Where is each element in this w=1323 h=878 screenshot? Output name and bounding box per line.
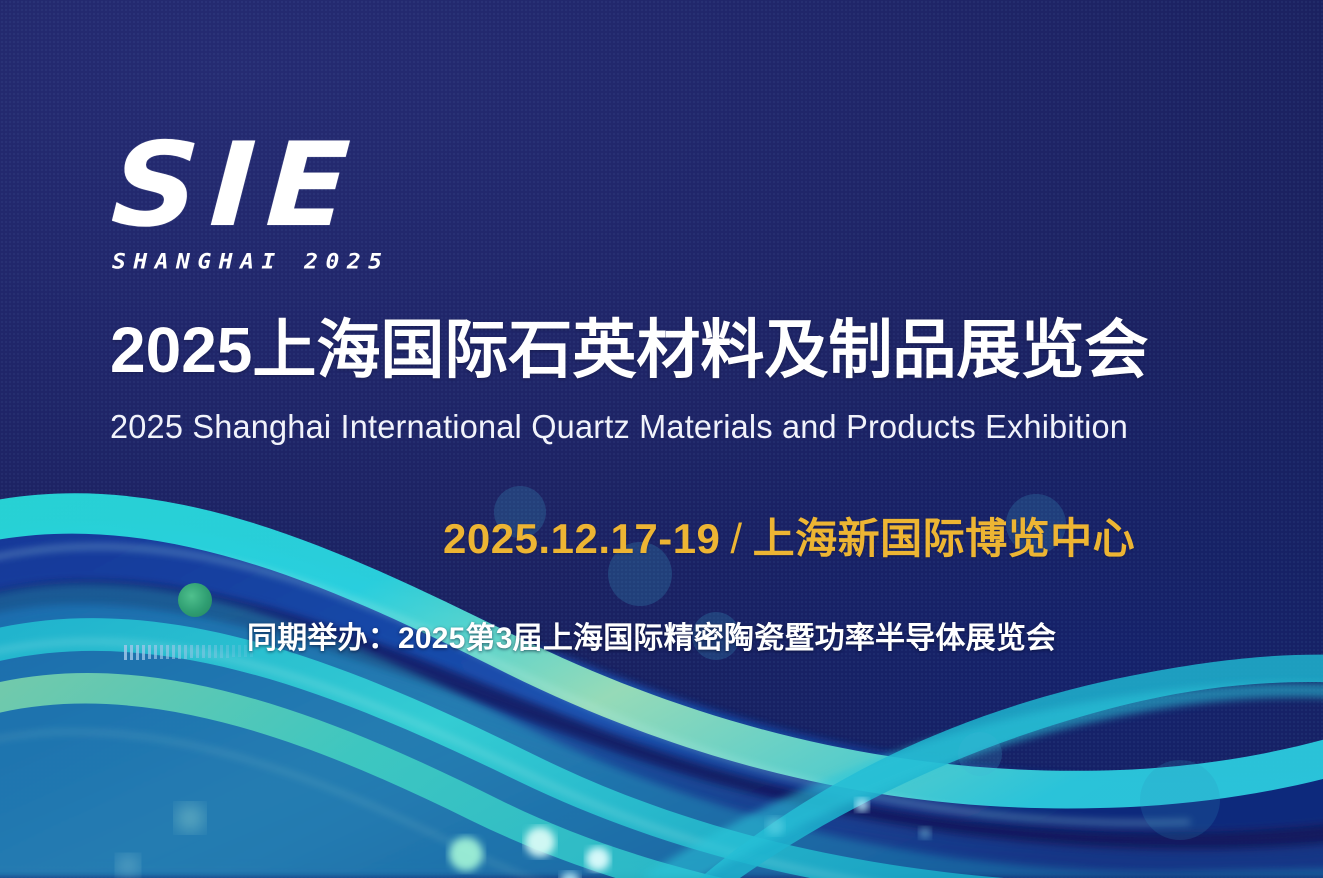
tick-mark bbox=[226, 645, 229, 658]
poster-content: SIE SHANGHAI 2025 2025上海国际石英材料及制品展览会 202… bbox=[0, 0, 1323, 878]
tick-mark bbox=[184, 645, 187, 659]
logo-wordmark: SIE bbox=[109, 128, 427, 244]
green-dot-decoration bbox=[178, 583, 212, 617]
tick-mark bbox=[202, 645, 205, 658]
dateline-separator: / bbox=[720, 515, 752, 562]
tick-mark bbox=[208, 645, 211, 658]
concurrent-event-line: 同期举办：2025第3届上海国际精密陶瓷暨功率半导体展览会 bbox=[247, 613, 1056, 657]
tick-mark bbox=[148, 645, 151, 659]
tick-mark bbox=[172, 645, 175, 659]
tick-mark bbox=[178, 645, 181, 659]
tick-mark bbox=[166, 645, 169, 659]
page-title-english: 2025 Shanghai International Quartz Mater… bbox=[110, 408, 1128, 446]
tick-mark bbox=[214, 645, 217, 658]
tick-mark bbox=[160, 645, 163, 659]
page-title-chinese: 2025上海国际石英材料及制品展览会 bbox=[110, 316, 1148, 385]
exhibition-poster: SIE SHANGHAI 2025 2025上海国际石英材料及制品展览会 202… bbox=[0, 0, 1323, 878]
tick-mark bbox=[232, 645, 235, 657]
date-venue-line: 2025.12.17-19/上海新国际博览中心 bbox=[443, 505, 1135, 566]
tick-mark bbox=[196, 645, 199, 658]
event-venue: 上海新国际博览中心 bbox=[753, 515, 1136, 562]
sie-logo: SIE SHANGHAI 2025 bbox=[112, 128, 412, 276]
logo-tagline: SHANGHAI 2025 bbox=[112, 250, 412, 274]
tick-mark bbox=[142, 645, 145, 660]
tick-mark bbox=[124, 645, 127, 660]
tick-mark bbox=[130, 645, 133, 660]
event-dates: 2025.12.17-19 bbox=[443, 515, 720, 562]
tick-mark bbox=[154, 645, 157, 659]
tick-mark bbox=[238, 645, 241, 657]
tick-mark bbox=[190, 645, 193, 658]
tick-mark bbox=[136, 645, 139, 660]
tick-mark bbox=[220, 645, 223, 658]
